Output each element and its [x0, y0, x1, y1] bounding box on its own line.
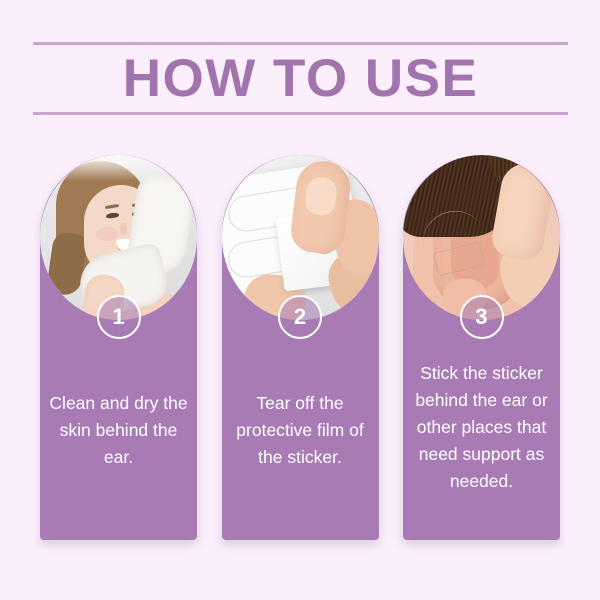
step-card-3-body: Stick the sticker behind the ear or othe…	[403, 155, 560, 540]
step-3-caption: Stick the sticker behind the ear or othe…	[407, 360, 556, 526]
step-card-2: Tear off the protective film of the stic…	[222, 155, 379, 540]
step-1-caption: Clean and dry the skin behind the ear.	[44, 360, 193, 526]
header: HOW TO USE	[33, 42, 568, 115]
step-card-1: Clean and dry the skin behind the ear. 1	[40, 155, 197, 540]
step-card-2-body: Tear off the protective film of the stic…	[222, 155, 379, 540]
page-title: HOW TO USE	[33, 45, 568, 112]
title-rule-top	[33, 42, 568, 45]
step-3-number-badge: 3	[460, 295, 504, 339]
step-card-1-body: Clean and dry the skin behind the ear.	[40, 155, 197, 540]
step-card-3: Stick the sticker behind the ear or othe…	[403, 155, 560, 540]
how-to-use-infographic: HOW TO USE	[0, 0, 600, 600]
step-2-number-badge: 2	[278, 295, 322, 339]
step-1-number-badge: 1	[97, 295, 141, 339]
step-2-caption: Tear off the protective film of the stic…	[226, 360, 375, 526]
steps-list: Clean and dry the skin behind the ear. 1	[40, 155, 560, 545]
title-rule-bottom	[33, 112, 568, 115]
